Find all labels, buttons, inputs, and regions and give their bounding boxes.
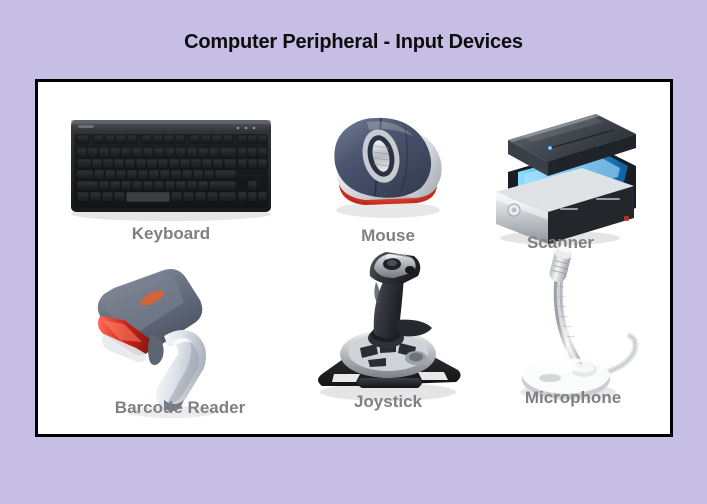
content-panel: Keyboard xyxy=(35,79,673,437)
device-grid: Keyboard xyxy=(38,82,670,434)
page-title: Computer Peripheral - Input Devices xyxy=(0,31,707,54)
device-label: Joystick xyxy=(298,392,478,412)
device-item-mouse[interactable]: Mouse xyxy=(313,104,463,256)
device-label: Microphone xyxy=(488,388,658,408)
device-label: Barcode Reader xyxy=(80,398,280,418)
device-item-barcode-reader[interactable]: Barcode Reader xyxy=(80,250,280,422)
barcode-reader-icon xyxy=(80,250,280,422)
device-item-scanner[interactable]: Scanner xyxy=(478,100,643,262)
device-label: Keyboard xyxy=(58,224,284,244)
device-item-joystick[interactable]: Joystick xyxy=(298,242,478,422)
device-item-microphone[interactable]: Microphone xyxy=(488,240,658,420)
device-item-keyboard[interactable]: Keyboard xyxy=(58,104,284,254)
slide-canvas: Computer Peripheral - Input Devices xyxy=(0,0,707,504)
